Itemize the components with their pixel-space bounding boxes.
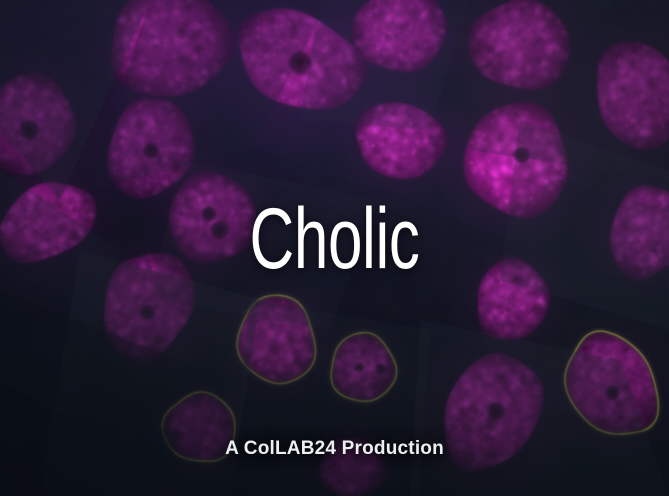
title-slide: Cholic A ColLAB24 Production	[0, 0, 669, 496]
production-credit: A ColLAB24 Production	[0, 438, 669, 460]
text-layer: Cholic A ColLAB24 Production	[0, 0, 669, 496]
page-title: Cholic	[94, 196, 576, 282]
